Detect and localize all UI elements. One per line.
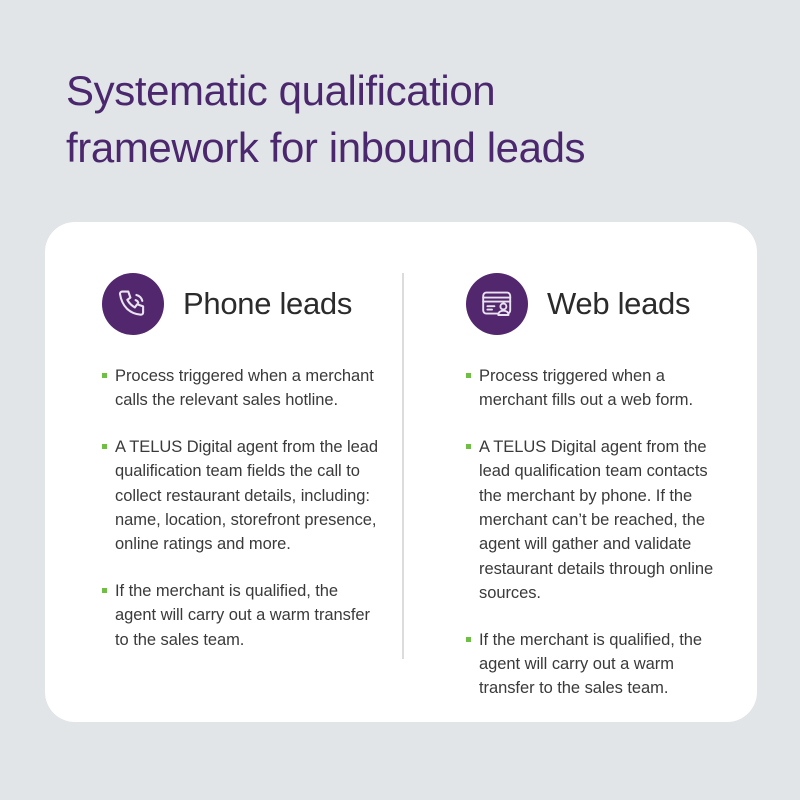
column-phone-leads: Phone leads Process triggered when a mer… xyxy=(45,222,401,722)
bullet-list-web: Process triggered when a merchant fills … xyxy=(466,364,719,701)
list-item: Process triggered when a merchant calls … xyxy=(102,364,379,413)
list-item: A TELUS Digital agent from the lead qual… xyxy=(102,435,379,557)
list-item: Process triggered when a merchant fills … xyxy=(466,364,719,413)
phone-call-icon xyxy=(102,273,164,335)
columns-wrapper: Phone leads Process triggered when a mer… xyxy=(45,222,757,722)
page-title: Systematic qualification framework for i… xyxy=(66,62,726,176)
web-form-user-icon xyxy=(466,273,528,335)
bullet-list-phone: Process triggered when a merchant calls … xyxy=(102,364,379,652)
column-heading-phone: Phone leads xyxy=(183,287,352,321)
list-item: If the merchant is qualified, the agent … xyxy=(102,579,379,652)
column-header-web: Web leads xyxy=(466,273,719,335)
column-header-phone: Phone leads xyxy=(102,273,379,335)
list-item: A TELUS Digital agent from the lead qual… xyxy=(466,435,719,606)
column-heading-web: Web leads xyxy=(547,287,690,321)
column-web-leads: Web leads Process triggered when a merch… xyxy=(401,222,757,722)
list-item: If the merchant is qualified, the agent … xyxy=(466,628,719,701)
content-card: Phone leads Process triggered when a mer… xyxy=(45,222,757,722)
infographic-page: Systematic qualification framework for i… xyxy=(0,0,800,800)
